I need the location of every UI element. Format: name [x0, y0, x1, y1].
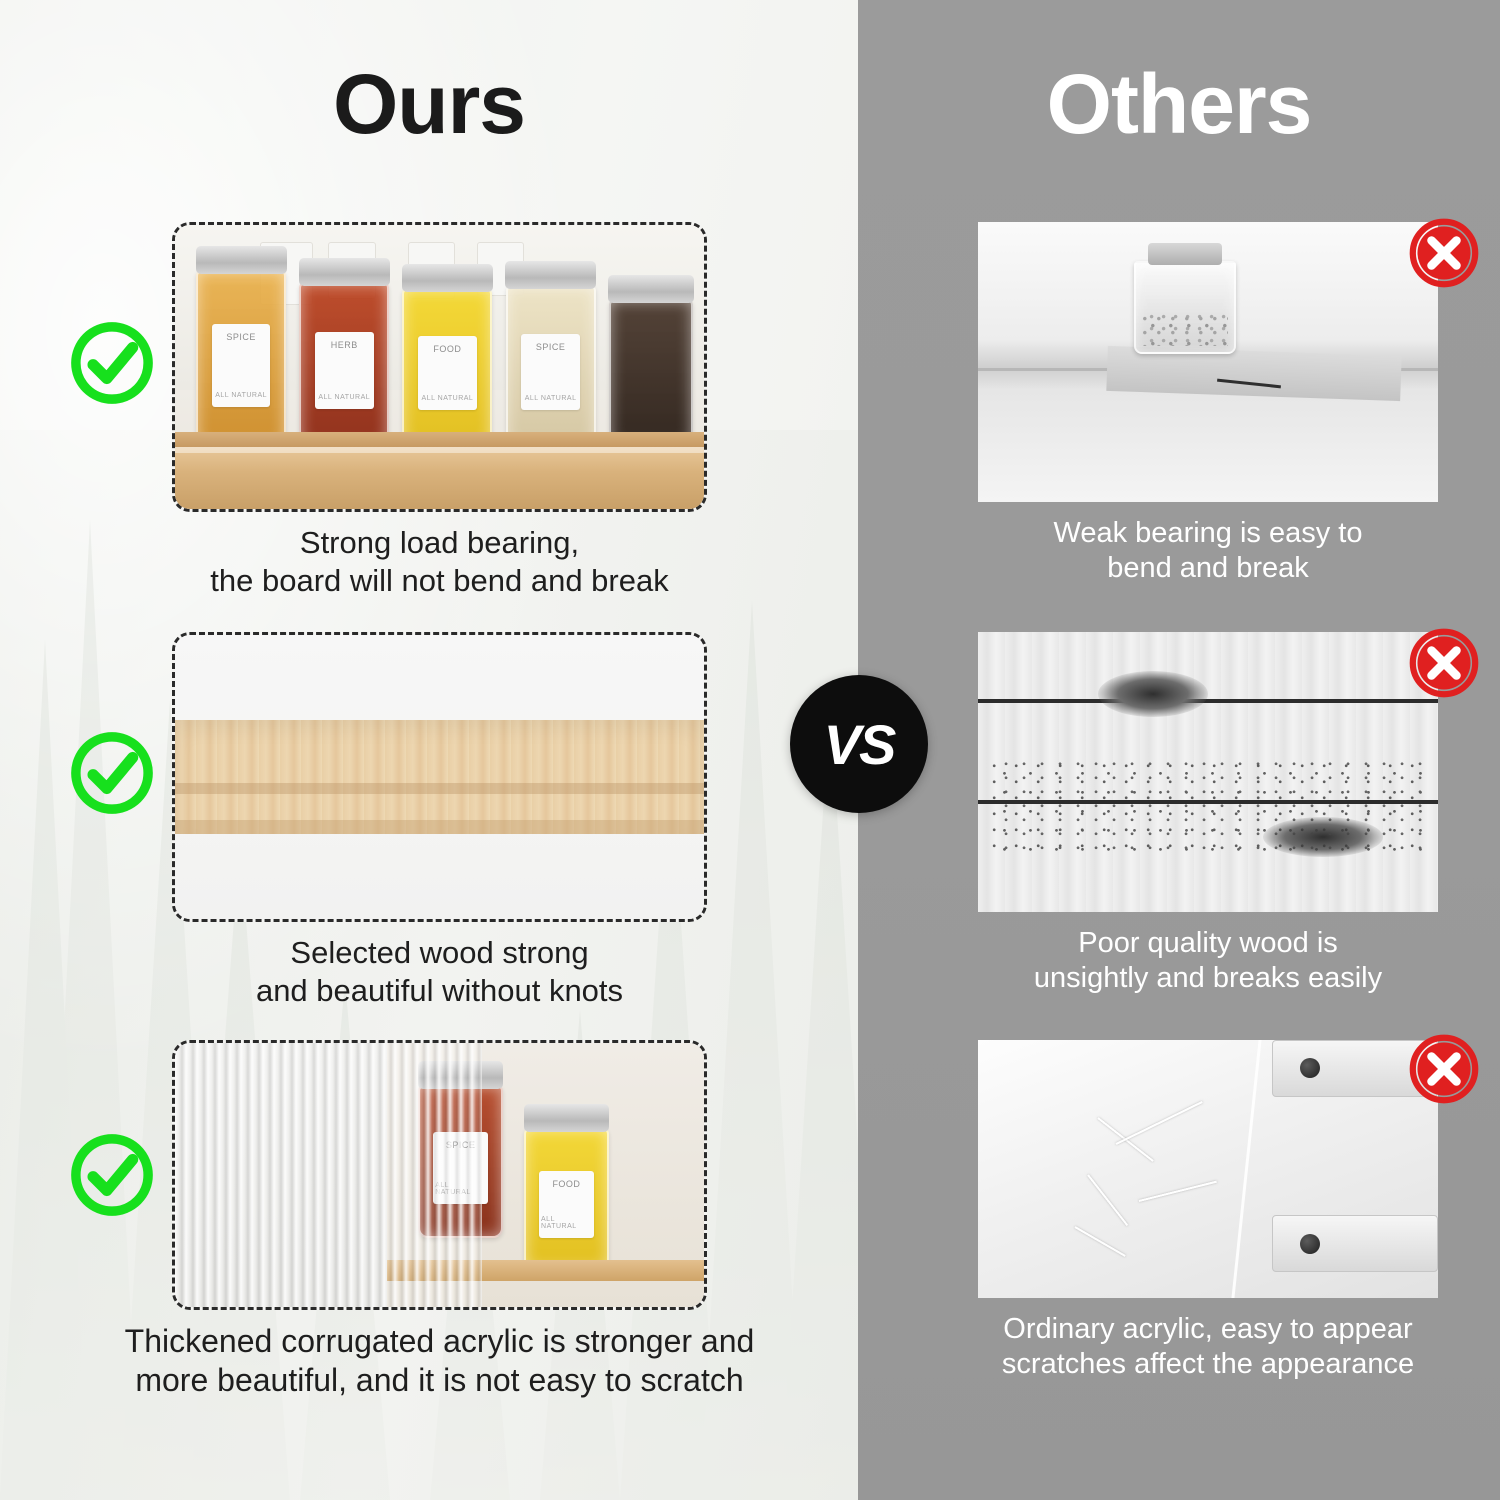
check-icon — [69, 1132, 155, 1218]
vs-badge: VS — [790, 675, 928, 813]
ours-image-3: SPICEALL NATURAL FOODALL NATURAL — [172, 1040, 707, 1310]
ours-image-2 — [172, 632, 707, 922]
others-item-1: Weak bearing is easy to bend and break — [978, 222, 1438, 587]
others-image-1 — [978, 222, 1438, 502]
ours-caption-2: Selected wood strong and beautiful witho… — [172, 934, 707, 1010]
others-caption-2: Poor quality wood is unsightly and break… — [978, 926, 1438, 997]
ours-item-1: SPICEALL NATURAL HERBALL NATURAL FOODALL… — [172, 222, 707, 600]
comparison-infographic: Ours SPICEALL NATURAL HERBALL NATUR — [0, 0, 1500, 1500]
cross-icon — [1405, 624, 1483, 702]
others-caption-3: Ordinary acrylic, easy to appear scratch… — [978, 1312, 1438, 1383]
ours-item-2: Selected wood strong and beautiful witho… — [172, 632, 707, 1010]
page-title-ours: Ours — [0, 62, 858, 146]
others-item-3: Ordinary acrylic, easy to appear scratch… — [978, 1040, 1438, 1383]
others-image-2 — [978, 632, 1438, 912]
cross-icon — [1405, 214, 1483, 292]
ours-image-1: SPICEALL NATURAL HERBALL NATURAL FOODALL… — [172, 222, 707, 512]
cross-icon — [1405, 1030, 1483, 1108]
others-image-3 — [978, 1040, 1438, 1298]
ours-caption-3: Thickened corrugated acrylic is stronger… — [80, 1322, 799, 1400]
vs-label: VS — [824, 712, 895, 777]
ours-caption-1: Strong load bearing, the board will not … — [172, 524, 707, 600]
ours-panel: Ours SPICEALL NATURAL HERBALL NATUR — [0, 0, 858, 1500]
check-icon — [69, 730, 155, 816]
check-icon — [69, 320, 155, 406]
others-panel: Others Weak bearing is easy to bend and … — [858, 0, 1500, 1500]
page-title-others: Others — [858, 62, 1500, 146]
others-item-2: Poor quality wood is unsightly and break… — [978, 632, 1438, 997]
others-caption-1: Weak bearing is easy to bend and break — [978, 516, 1438, 587]
ours-item-3: SPICEALL NATURAL FOODALL NATURAL Thicken… — [172, 1040, 707, 1400]
